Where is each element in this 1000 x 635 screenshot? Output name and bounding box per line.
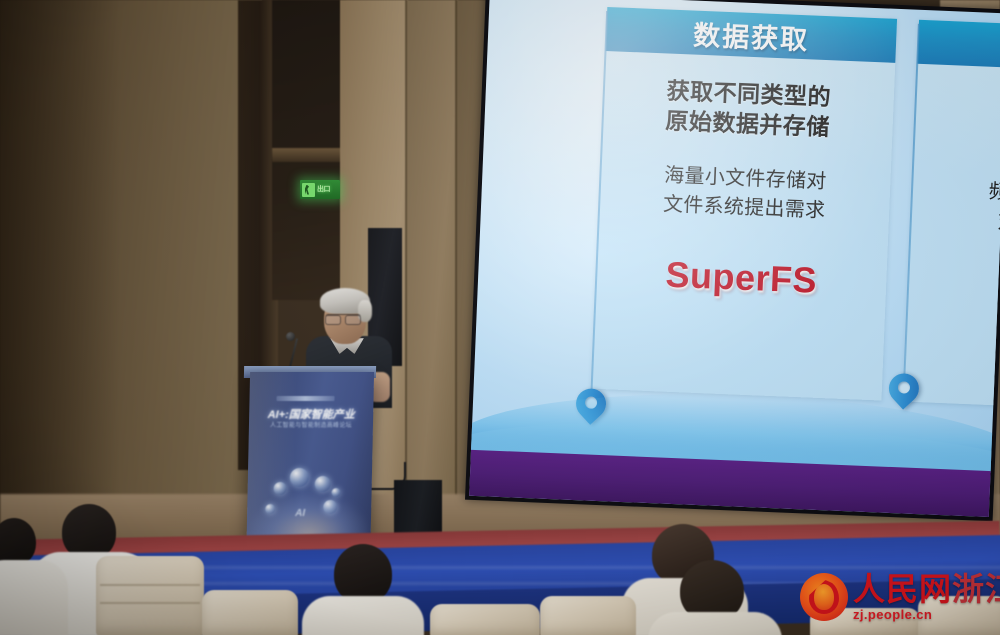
podium-subtitle: 人工智能与智能制造高峰论坛 — [257, 420, 365, 429]
audience-chair — [540, 596, 636, 635]
audience-chair — [202, 590, 298, 635]
slide-map-pin-right — [888, 373, 920, 412]
slide-card-right-body: 随 频繁 对 — [903, 64, 1000, 410]
slide-card-right: 数 随 频繁 对 — [903, 20, 1000, 410]
watermark-url: zj.people.cn — [853, 608, 1000, 621]
audience-body — [0, 560, 68, 635]
microphone-head — [286, 332, 295, 341]
audience-chair-seam — [100, 602, 200, 604]
watermark-text: 人民网浙江 zj.people.cn — [853, 573, 1000, 621]
projection-screen: 数据获取 获取不同类型的 原始数据并存储 海量小文件存储对 文件系统提出需求 S… — [465, 0, 1000, 521]
audience-head — [334, 544, 392, 604]
audience-body — [648, 612, 782, 635]
podium-logo-bar — [276, 396, 334, 401]
slide-right-headline-line-1: 随 — [925, 86, 1000, 123]
slide-card-left: 数据获取 获取不同类型的 原始数据并存储 海量小文件存储对 文件系统提出需求 S… — [592, 7, 897, 401]
podium-orb — [315, 476, 331, 492]
conference-photo-scene: 出口 数据获取 获取不同类型的 原始数据并存储 海量小文件存储对 文件系统提出需… — [0, 0, 1000, 635]
people-cn-logo-icon — [800, 573, 848, 621]
watermark-brand-cn: 人民网 — [853, 571, 952, 607]
slide-brand-name: SuperFS — [612, 251, 872, 304]
wall-panel-seam — [455, 0, 457, 520]
running-man-icon — [302, 183, 315, 197]
podium-orb — [290, 468, 309, 487]
audience-chair — [96, 556, 204, 635]
slide-card-left-header-title: 数据获取 — [693, 13, 811, 57]
slide-right-subline-line-2: 对 — [920, 206, 1000, 241]
audience-chair-seam — [100, 584, 200, 586]
wall-alcove-lip — [272, 148, 348, 162]
audience-body — [302, 596, 424, 635]
emergency-exit-sign: 出口 — [300, 180, 340, 199]
audience-chair — [430, 604, 540, 635]
logo-inner — [814, 584, 834, 610]
watermark: 人民网浙江 zj.people.cn — [800, 568, 996, 626]
projected-slide: 数据获取 获取不同类型的 原始数据并存储 海量小文件存储对 文件系统提出需求 S… — [469, 0, 1000, 517]
presenter-glasses — [325, 314, 361, 324]
watermark-province-cn: 浙江 — [952, 571, 1000, 607]
exit-sign-label: 出口 — [317, 186, 330, 193]
wall-panel-b — [406, 0, 458, 520]
wall-panel-seam — [405, 0, 407, 520]
watermark-brand-line: 人民网浙江 — [853, 573, 1000, 605]
slide-card-left-body: 获取不同类型的 原始数据并存储 海量小文件存储对 文件系统提出需求 SuperF… — [592, 51, 896, 401]
